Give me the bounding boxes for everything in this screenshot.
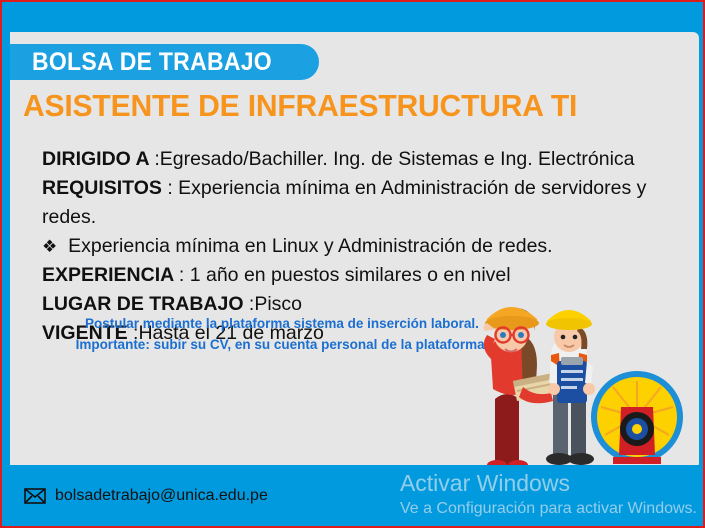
engineers-illustration: [461, 269, 691, 469]
man-engineer-figure: [546, 310, 595, 465]
job-posting-poster: BOLSA DE TRABAJO ASISTENTE DE INFRAESTRU…: [0, 0, 705, 528]
woman-engineer-figure: [483, 307, 557, 469]
badge-label: BOLSA DE TRABAJO: [32, 48, 272, 77]
lugar-label: LUGAR DE TRABAJO: [42, 293, 249, 315]
detail-requisitos: REQUISITOS : Experiencia mínima en Admin…: [42, 174, 682, 232]
dirigido-label: DIRIGIDO A: [42, 148, 154, 170]
note-line-2: Importante: subir su CV, en su cuenta pe…: [32, 334, 532, 355]
contact-bar: bolsadetrabajo@unica.edu.pe: [2, 465, 705, 526]
bullet-text: Experiencia mínima en Linux y Administra…: [68, 235, 553, 257]
envelope-icon: [24, 488, 46, 504]
email-address[interactable]: bolsadetrabajo@unica.edu.pe: [55, 487, 268, 505]
note-line-1: Postular mediante la plataforma sistema …: [32, 313, 532, 334]
email-contact[interactable]: bolsadetrabajo@unica.edu.pe: [24, 487, 268, 505]
page-title: ASISTENTE DE INFRAESTRUCTURA TI: [23, 88, 673, 124]
detail-bullet: ❖ Experiencia mínima en Linux y Administ…: [42, 232, 682, 261]
detail-dirigido: DIRIGIDO A :Egresado/Bachiller. Ing. de …: [42, 145, 682, 174]
content-panel: BOLSA DE TRABAJO ASISTENTE DE INFRAESTRU…: [10, 32, 699, 469]
university-seal-icon: [591, 371, 683, 464]
experiencia-label: EXPERIENCIA: [42, 264, 179, 286]
dirigido-value: :Egresado/Bachiller. Ing. de Sistemas e …: [154, 148, 634, 170]
application-note: Postular mediante la plataforma sistema …: [32, 313, 532, 355]
bolsa-de-trabajo-badge: BOLSA DE TRABAJO: [10, 44, 319, 80]
lugar-value: :Pisco: [249, 293, 302, 315]
diamond-bullet-icon: ❖: [42, 237, 57, 256]
requisitos-label: REQUISITOS: [42, 177, 167, 199]
